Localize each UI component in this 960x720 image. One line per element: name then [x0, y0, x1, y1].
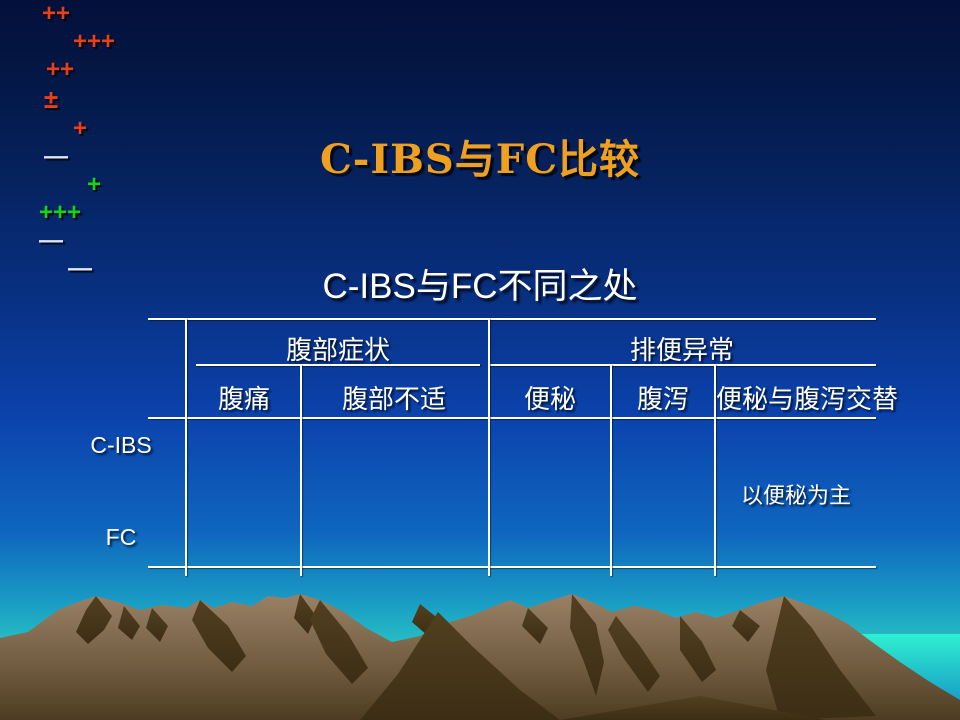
- cell-c-ibs-constipation: ++: [0, 56, 120, 84]
- row-label-c-ibs: C-IBS: [60, 432, 182, 459]
- cell-c-ibs-abdominal-discomfort: +++: [0, 28, 188, 56]
- group-header-defecation: 排便异常: [488, 330, 876, 367]
- comparison-table: 腹部症状 排便异常 腹痛 腹部不适 便秘 腹泻 便秘与腹泻交替 C-IBS ++…: [0, 0, 960, 720]
- slide: C-IBS与FC比较 C-IBS与FC不同之处 腹部症状 排便异常 腹痛 腹部不…: [0, 0, 960, 720]
- cell-c-ibs-diarrhea: ±: [0, 84, 102, 115]
- column-header-abdominal-discomfort: 腹部不适: [300, 379, 488, 416]
- cell-fc-constipation: +++: [0, 199, 120, 227]
- cell-c-ibs-alternating-note: 以便秘为主: [716, 478, 876, 510]
- cell-c-ibs-alternating: +: [0, 115, 160, 143]
- cell-fc-diarrhea: —: [0, 227, 102, 255]
- group-header-abdominal: 腹部症状: [196, 330, 480, 367]
- column-header-alternating: 便秘与腹泻交替: [716, 379, 876, 416]
- cell-c-ibs-abdominal-pain: ++: [0, 0, 112, 28]
- table-top-rule: [148, 318, 876, 320]
- cell-fc-abdominal-pain: —: [0, 143, 112, 171]
- cell-fc-abdominal-discomfort: +: [0, 171, 188, 199]
- column-header-diarrhea: 腹泻: [612, 379, 714, 416]
- column-header-constipation: 便秘: [490, 379, 610, 416]
- table-bottom-rule: [148, 566, 876, 568]
- row-label-fc: FC: [60, 524, 182, 551]
- cell-fc-alternating: —: [0, 255, 160, 283]
- header-bottom-rule: [148, 417, 876, 419]
- divider-rowlabel: [185, 318, 187, 576]
- column-header-abdominal-pain: 腹痛: [188, 379, 300, 416]
